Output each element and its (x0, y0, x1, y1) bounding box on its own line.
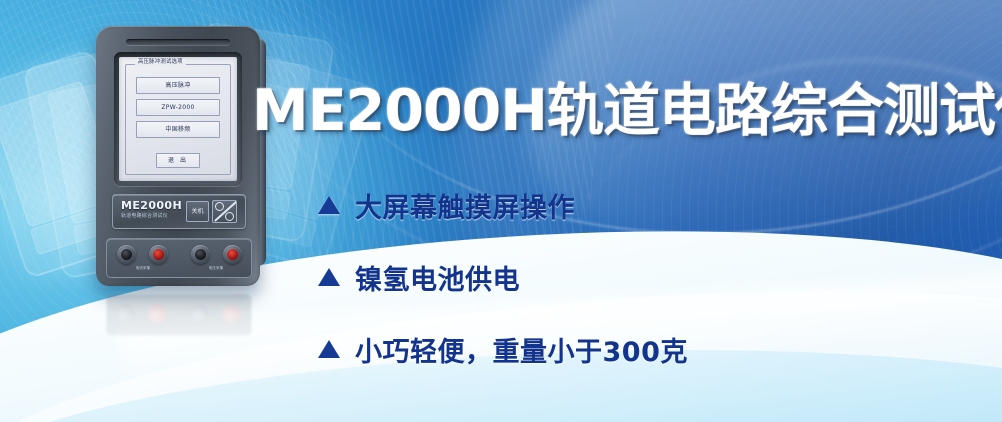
triangle-bullet-icon (318, 340, 340, 358)
product-device-image: 高压脉冲测试选项 高压脉冲 ZPW-2000 中国移频 退 出 ME2000H … (96, 26, 260, 286)
device-lcd-screen: 高压脉冲测试选项 高压脉冲 ZPW-2000 中国移频 退 出 (119, 57, 237, 181)
device-connector-panel: 电流采集 电压采集 (106, 238, 252, 278)
lcd-group-title: 高压脉冲测试选项 (135, 59, 186, 66)
feature-list: 大屏幕触摸屏操作 镍氢电池供电 小巧轻便，重量小于300克 (318, 178, 918, 376)
device-screen-bezel: 高压脉冲测试选项 高压脉冲 ZPW-2000 中国移频 退 出 (114, 52, 242, 186)
feature-item-2: 镍氢电池供电 (318, 250, 918, 304)
product-banner: 高压脉冲测试选项 高压脉冲 ZPW-2000 中国移频 退 出 ME2000H … (0, 0, 1002, 422)
feature-item-label: 小巧轻便，重量小于300克 (355, 330, 688, 369)
reflection-jack (148, 304, 167, 323)
reflection-jack (190, 304, 209, 323)
feature-item-label: 大屏幕触摸屏操作 (355, 186, 575, 225)
page-title: ME2000H轨道电路综合测试仪 (252, 78, 1002, 144)
lcd-button-exit[interactable]: 退 出 (156, 153, 200, 168)
power-circle-icon (215, 202, 224, 211)
power-settings-icon[interactable] (212, 200, 237, 223)
banana-jack-red[interactable] (223, 245, 242, 264)
device-power-off-button[interactable]: 关机 (186, 201, 209, 222)
feature-item-3: 小巧轻便，重量小于300克 (318, 322, 918, 376)
banana-jack-red[interactable] (149, 245, 168, 264)
device-subtitle-label: 轨道电路综合测试仪 (121, 213, 168, 220)
device-front-panel: ME2000H 轨道电路综合测试仪 关机 (112, 194, 246, 229)
triangle-bullet-icon (318, 268, 340, 286)
lcd-button-hv-pulse[interactable]: 高压脉冲 (136, 77, 220, 94)
reflection-jack (222, 304, 241, 323)
device-top-slot (126, 39, 230, 45)
connector-label-voltage: 电压采集 (187, 266, 245, 271)
banana-jack-black[interactable] (191, 245, 210, 264)
device-reflection (96, 292, 260, 378)
lcd-group-box: 高压脉冲测试选项 高压脉冲 ZPW-2000 中国移频 退 出 (125, 64, 231, 175)
gear-circle-icon (225, 212, 234, 221)
feature-item-label: 镍氢电池供电 (355, 258, 520, 297)
triangle-bullet-icon (318, 196, 340, 214)
banana-jack-black[interactable] (117, 245, 136, 264)
feature-item-1: 大屏幕触摸屏操作 (318, 178, 918, 232)
lcd-button-china-shift-freq[interactable]: 中国移频 (136, 121, 220, 138)
lcd-button-zpw2000[interactable]: ZPW-2000 (136, 99, 220, 116)
device-brand-label: ME2000H (121, 200, 182, 212)
connector-label-current: 电流采集 (115, 266, 171, 271)
reflection-jack (116, 304, 135, 323)
